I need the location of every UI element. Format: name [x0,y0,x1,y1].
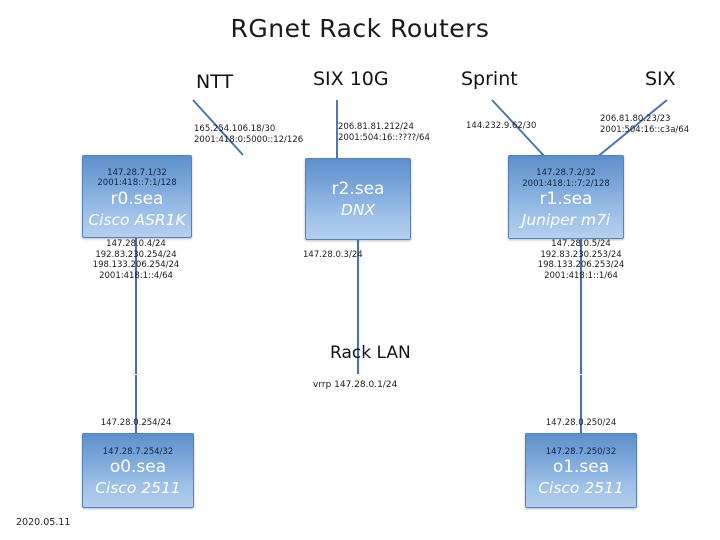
peer-addrs-sprint: 144.232.9.62/30 [466,121,536,132]
peer-six-ipv6: 2001:504:16::c3a/64 [600,125,689,136]
router-r0-iface-3: 2001:418:1::4/64 [76,271,196,282]
rack-lan-label: Rack LAN [330,343,411,363]
console-node-o0[interactable]: 147.28.7.254/32 o0.sea Cisco 2511 [82,433,194,508]
router-r2-name: r2.sea [332,179,385,200]
peer-addrs-ntt: 165.254.106.18/30 2001:418:0:5000::12/12… [194,124,303,145]
router-r2-iface-0: 147.28.0.3/24 [303,250,363,261]
router-r1-iface-3: 2001:418:1::1/64 [521,271,641,282]
router-r2-model: DNX [341,200,375,220]
peer-label-sprint: Sprint [461,68,518,90]
router-r0-interfaces: 147.28.0.4/24 192.83.230.254/24 198.133.… [76,239,196,281]
router-r0-iface-1: 192.83.230.254/24 [76,250,196,261]
diagram-canvas: RGnet Rack Routers NTT SIX 10G Sprint SI… [0,0,720,540]
router-r1-iface-0: 147.28.0.5/24 [521,239,641,250]
router-r1-name: r1.sea [540,189,593,210]
router-r1-loopback-v6: 2001:418:1::7:2/128 [522,179,610,190]
console-o0-loopback-v4: 147.28.7.254/32 [103,447,173,458]
peer-six10g-ipv6: 2001:504:16::????/64 [338,133,430,144]
peer-ntt-ipv6: 2001:418:0:5000::12/126 [194,135,303,146]
peer-label-ntt: NTT [196,71,233,93]
console-o0-model: Cisco 2511 [95,478,181,498]
rack-lan-vrrp-label: vrrp 147.28.0.1/24 [313,380,397,390]
router-r0-iface-0: 147.28.0.4/24 [76,239,196,250]
router-node-r0[interactable]: 147.28.7.1/32 2001:418::7:1/128 r0.sea C… [82,155,192,238]
console-o0-link-address: 147.28.0.254/24 [76,418,196,429]
router-node-r2[interactable]: r2.sea DNX [305,158,411,240]
router-r1-iface-1: 192.83.230.253/24 [521,250,641,261]
peer-label-six10g: SIX 10G [313,68,389,90]
router-r0-iface-2: 198.133.206.254/24 [76,260,196,271]
router-r0-loopback-v4: 147.28.7.1/32 [107,168,167,179]
page-title: RGnet Rack Routers [0,14,720,43]
router-r0-loopback-v6: 2001:418::7:1/128 [97,178,176,189]
peer-sprint-ipv4: 144.232.9.62/30 [466,121,536,132]
router-r0-model: Cisco ASR1K [88,210,185,230]
router-r0-name: r0.sea [111,189,164,210]
peer-addrs-six: 206.81.80.23/23 2001:504:16::c3a/64 [600,114,689,135]
console-o1-link-address: 147.28.0.250/24 [521,418,641,429]
peer-six10g-ipv4: 206.81.81.212/24 [338,122,430,133]
router-r1-loopback-v4: 147.28.7.2/32 [536,168,596,179]
router-r1-interfaces: 147.28.0.5/24 192.83.230.253/24 198.133.… [521,239,641,281]
console-o1-model: Cisco 2511 [538,478,624,498]
footer-date: 2020.05.11 [16,517,70,528]
console-o1-loopback-v4: 147.28.7.250/32 [546,447,616,458]
peer-label-six: SIX [645,68,676,90]
router-r1-model: Juniper m7i [522,210,610,230]
peer-ntt-ipv4: 165.254.106.18/30 [194,124,303,135]
router-node-r1[interactable]: 147.28.7.2/32 2001:418:1::7:2/128 r1.sea… [508,155,624,239]
console-o1-name: o1.sea [553,457,609,478]
console-o0-name: o0.sea [110,457,166,478]
router-r1-iface-2: 198.133.206.253/24 [521,260,641,271]
peer-addrs-six10g: 206.81.81.212/24 2001:504:16::????/64 [338,122,430,143]
peer-six-ipv4: 206.81.80.23/23 [600,114,689,125]
console-node-o1[interactable]: 147.28.7.250/32 o1.sea Cisco 2511 [525,433,637,508]
router-r2-interfaces: 147.28.0.3/24 [303,250,363,261]
